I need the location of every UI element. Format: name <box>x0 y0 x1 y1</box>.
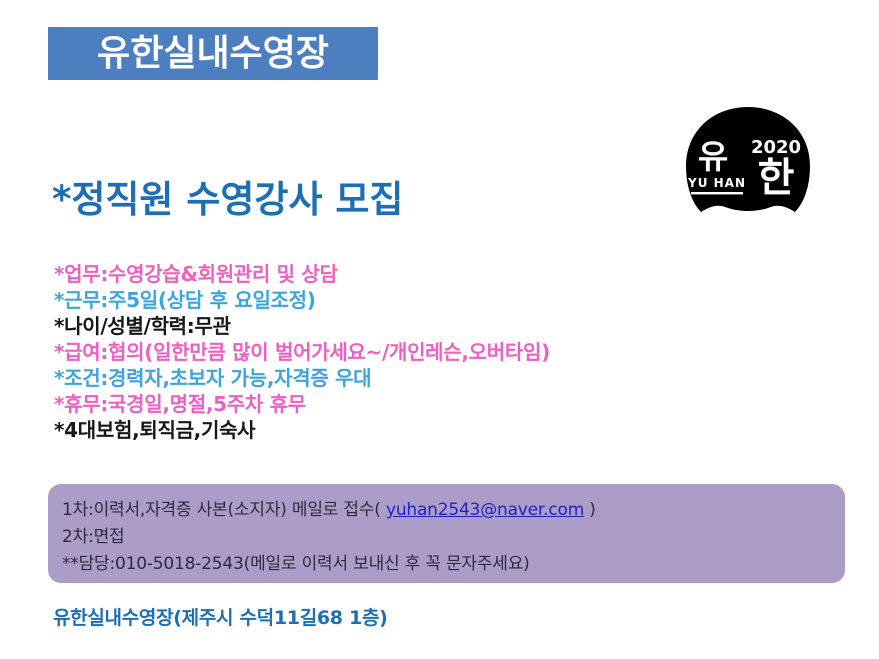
logo-korean-left-text: 유 <box>698 137 728 176</box>
page-title: *정직원 수영강사 모집 <box>52 178 403 222</box>
job-detail-duties: *업무:수영강습&회원관리 및 상담 <box>54 261 814 287</box>
application-info-box: 1차:이력서,자격증 사본(소지자) 메일로 접수( yuhan2543@nav… <box>48 484 845 583</box>
application-step-2: 2차:면접 <box>62 524 845 551</box>
logo-korean-right-text: 한 <box>758 155 795 201</box>
footer-address: 유한실내수영장(제주시 수덕11길68 1층) <box>53 603 388 630</box>
application-step-1-prefix: 1차:이력서,자격증 사본(소지자) 메일로 접수( <box>62 500 386 520</box>
job-detail-holidays: *휴무:국경일,명절,5주차 휴무 <box>54 391 814 417</box>
logo-romanized-text: YU HAN <box>687 176 746 190</box>
header-banner-title: 유한실내수영장 <box>97 36 329 72</box>
job-detail-eligibility: *나이/성별/학력:무관 <box>54 313 814 339</box>
application-step-1-suffix: ) <box>584 500 596 520</box>
job-detail-benefits: *4대보험,퇴직금,기숙사 <box>54 417 814 443</box>
job-detail-schedule: *근무:주5일(상담 후 요일조정) <box>54 287 814 313</box>
email-link[interactable]: yuhan2543@naver.com <box>386 500 584 520</box>
application-step-1: 1차:이력서,자격증 사본(소지자) 메일로 접수( yuhan2543@nav… <box>62 497 845 524</box>
swim-cap-logo: 유 2020 한 YU HAN <box>683 106 813 220</box>
job-detail-conditions: *조건:경력자,초보자 가능,자격증 우대 <box>54 365 814 391</box>
application-contact: **담당:010-5018-2543(메일로 이력서 보내신 후 꼭 문자주세요… <box>62 551 845 578</box>
logo-underline-rule <box>691 192 743 194</box>
job-detail-salary: *급여:협의(일한만큼 많이 벌어가세요~/개인레슨,오버타임) <box>54 339 814 365</box>
job-details-list: *업무:수영강습&회원관리 및 상담 *근무:주5일(상담 후 요일조정) *나… <box>54 261 814 443</box>
header-banner: 유한실내수영장 <box>48 27 378 80</box>
poster-canvas: 유한실내수영장 유 2020 한 YU HAN *정직원 수영강사 모집 *업무… <box>0 0 879 659</box>
